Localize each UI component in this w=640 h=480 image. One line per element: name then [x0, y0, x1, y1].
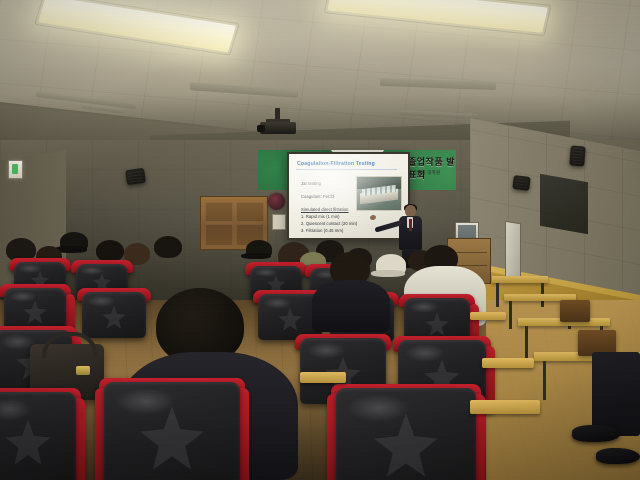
star-emblem [100, 303, 128, 331]
tablet-arm-row2[interactable] [482, 358, 534, 368]
projector-icon [256, 108, 300, 140]
seat-back-shell [104, 382, 240, 480]
attendee-dark-hair-4 [154, 236, 182, 258]
standing-attendee-shoe-right [596, 448, 640, 464]
speaker-grille [127, 170, 143, 183]
attendee-cap-dark-2 [246, 240, 272, 258]
door-panel-upper-right [236, 202, 264, 222]
slide-line-2: Simulated direct filtration [301, 207, 349, 212]
cap-brim [371, 270, 406, 277]
star-emblem [423, 310, 451, 338]
desk-leg [496, 283, 499, 307]
seat-row1-3[interactable] [336, 388, 476, 480]
star-emblem [134, 400, 210, 476]
slide-line-5: 3. Filtration (0.45 mm) [301, 228, 343, 233]
presenter-tie [409, 219, 412, 231]
slide-line-4: 2. Quiescent contact (20 min) [301, 221, 357, 226]
projector-body [260, 122, 296, 134]
seat-row1-1[interactable] [0, 392, 76, 480]
wall-notice [272, 214, 286, 230]
speaker-grille [514, 177, 528, 189]
slide-title-rule [296, 169, 397, 170]
attendee-cap-black [60, 232, 88, 251]
seat-back-shell [0, 392, 76, 480]
slide-line-3: 1. Rapid mix (1 min) [301, 214, 340, 219]
star-emblem [368, 407, 444, 480]
attendee-white-cap [376, 254, 406, 275]
tablet-arm-row1[interactable] [470, 400, 540, 414]
exit-sign-glyph [12, 164, 18, 174]
door-panel-upper-left [205, 202, 233, 222]
slide-title: Coagulation-Filtration Testing [297, 161, 375, 167]
door-panel-lower-left [205, 224, 233, 246]
handbag-clasp [76, 366, 90, 375]
exit-sign-icon [8, 160, 23, 179]
speaker-grille [571, 148, 583, 165]
star-emblem [276, 305, 304, 333]
speaker-far-right-icon [569, 145, 586, 166]
star-emblem [21, 298, 49, 326]
tablet-arm-row1-b[interactable] [300, 372, 346, 383]
attendee-dark-hair-3 [96, 240, 124, 262]
attendee-midright-body [312, 280, 390, 332]
seat-back-shell [336, 388, 476, 480]
tablet-arm-row3[interactable] [470, 312, 506, 320]
speaker-left-icon [125, 168, 146, 185]
star-emblem [1, 415, 55, 469]
speaker-right-icon [512, 175, 531, 191]
desk-leg [525, 326, 528, 360]
standing-attendee-trousers [592, 352, 640, 436]
slide-line-0: Jar testing [301, 181, 321, 186]
wreath-icon [268, 193, 285, 210]
whiteboard-panel [505, 221, 521, 282]
monitor-screen [458, 225, 476, 238]
right-wall-dark-panel [540, 174, 588, 234]
banner-headline: 졸업작품 발표회 [408, 155, 456, 181]
desk-leg [509, 301, 512, 329]
slide-line-1: Coagulant: FeCl3 [301, 194, 334, 199]
standing-attendee-shoe-left [572, 425, 620, 442]
desk-leg [543, 361, 546, 400]
side-chair-1[interactable] [560, 300, 590, 322]
projector-lens [257, 125, 265, 132]
lecture-hall-scene: 졸업작품 발표회 한국 환경공학과 대학원 Coagulation-Filtra… [0, 0, 640, 480]
desk-top [492, 276, 548, 283]
seat-row3-2[interactable] [82, 292, 146, 338]
seat-row1-2[interactable] [104, 382, 240, 480]
seat-back-shell [82, 292, 146, 338]
